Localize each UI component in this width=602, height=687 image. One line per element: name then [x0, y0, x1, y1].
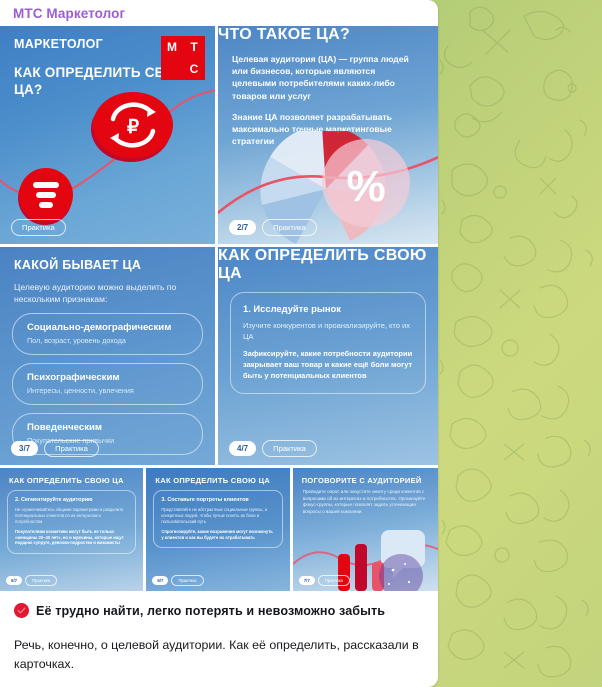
card-2-tag: Практика	[262, 219, 317, 236]
card-2-page-badge: 2/7	[229, 220, 256, 235]
card-5-tag: Практика	[25, 575, 57, 586]
card-3-tag: Практика	[44, 440, 99, 457]
card-2-header: ЧТО ТАКОЕ ЦА?	[218, 26, 438, 44]
check-circle-icon	[14, 603, 29, 618]
card-3-item-1-title: Социально-демографическим	[27, 322, 188, 333]
album-row-1: ₽ М Т С МАРКЕТОЛОГ КАК ОПРЕДЕЛИТЬ	[0, 26, 438, 244]
telegram-message-bubble: МТС Маркетолог ₽	[0, 0, 438, 687]
card-7-paragraph-1: Проведите опрос или запустите анкету сре…	[293, 485, 438, 516]
card-6-page-badge: 6/7	[152, 576, 168, 585]
message-caption: Её трудно найти, легко потерять и невозм…	[0, 591, 438, 684]
card-3-item-1: Социально-демографическим Пол, возраст, …	[12, 313, 203, 355]
card-2[interactable]: % ЧТО ТАКОЕ ЦА? Целевая аудитория (ЦА) —…	[218, 26, 438, 244]
card-1-tag: Практика	[11, 219, 66, 236]
card-4-tag: Практика	[262, 440, 317, 457]
card-5-page-badge: 5/7	[6, 576, 22, 585]
media-album: ₽ М Т С МАРКЕТОЛОГ КАК ОПРЕДЕЛИТЬ	[0, 26, 438, 591]
card-5[interactable]: КАК ОПРЕДЕЛИТЬ СВОЮ ЦА 2. Сегментируйте …	[0, 468, 143, 591]
mts-logo: М Т С	[161, 36, 205, 80]
album-row-3: КАК ОПРЕДЕЛИТЬ СВОЮ ЦА 2. Сегментируйте …	[0, 468, 438, 591]
card-4-header: КАК ОПРЕДЕЛИТЬ СВОЮ ЦА	[218, 247, 438, 283]
card-3[interactable]: КАКОЙ БЫВАЕТ ЦА Целевую аудиторию можно …	[0, 247, 215, 465]
card-7[interactable]: ПОГОВОРИТЕ С АУДИТОРИЕЙ Проведите опрос …	[293, 468, 438, 591]
card-3-item-2-title: Психографическим	[27, 372, 188, 383]
card-2-badges: 2/7 Практика	[229, 219, 317, 236]
card-4-badges: 4/7 Практика	[229, 440, 317, 457]
card-5-step-p2: Покупателями косметики могут быть не тол…	[15, 529, 128, 547]
card-7-header: ПОГОВОРИТЕ С АУДИТОРИЕЙ	[293, 468, 438, 485]
card-3-item-2-sub: Интересы, ценности, увлечения	[27, 386, 188, 395]
card-3-item-2: Психографическим Интересы, ценности, увл…	[12, 363, 203, 405]
card-5-step: 2. Сегментируйте аудиторию Не ограничива…	[7, 490, 136, 554]
card-5-header: КАК ОПРЕДЕЛИТЬ СВОЮ ЦА	[0, 468, 143, 485]
card-4-step-p1: Изучите конкурентов и проанализируйте, к…	[243, 321, 413, 342]
card-4-step-title: 1. Исследуйте рынок	[243, 303, 413, 314]
card-6[interactable]: КАК ОПРЕДЕЛИТЬ СВОЮ ЦА 3. Составьте порт…	[146, 468, 289, 591]
card-6-step: 3. Составьте портреты клиентов Представл…	[153, 490, 282, 548]
card-5-step-p1: Не ограничивайтесь общими параметрами и …	[15, 507, 128, 525]
card-4-page-badge: 4/7	[229, 441, 256, 456]
caption-body: Речь, конечно, о целевой аудитории. Как …	[14, 636, 422, 674]
card-5-badges: 5/7 Практика	[6, 575, 57, 586]
card-1[interactable]: ₽ М Т С МАРКЕТОЛОГ КАК ОПРЕДЕЛИТЬ	[0, 26, 215, 244]
card-6-step-p2: Спрогнозируйте, какие возражения могут в…	[161, 529, 274, 541]
card-7-tag: Практика	[318, 575, 350, 586]
card-7-page-badge: 7/7	[299, 576, 315, 585]
card-6-step-title: 3. Составьте портреты клиентов	[161, 497, 274, 503]
card-2-paragraph-2: Знание ЦА позволяет разрабатывать максим…	[218, 102, 438, 148]
card-6-badges: 6/7 Практика	[152, 575, 203, 586]
card-7-badges: 7/7 Практика	[299, 575, 350, 586]
card-1-badges: Практика	[11, 219, 66, 236]
card-3-header: КАКОЙ БЫВАЕТ ЦА	[0, 247, 215, 272]
card-3-intro: Целевую аудиторию можно выделить по неск…	[0, 272, 215, 305]
card-6-tag: Практика	[171, 575, 203, 586]
caption-headline-row: Её трудно найти, легко потерять и невозм…	[14, 603, 422, 618]
card-2-paragraph-1: Целевая аудитория (ЦА) — группа людей ил…	[218, 44, 438, 102]
card-4-step: 1. Исследуйте рынок Изучите конкурентов …	[230, 292, 426, 394]
svg-text:₽: ₽	[127, 117, 139, 138]
card-3-item-1-sub: Пол, возраст, уровень дохода	[27, 336, 188, 345]
album-row-2: КАКОЙ БЫВАЕТ ЦА Целевую аудиторию можно …	[0, 247, 438, 465]
caption-headline: Её трудно найти, легко потерять и невозм…	[36, 604, 385, 618]
card-3-page-badge: 3/7	[11, 441, 38, 456]
card-6-header: КАК ОПРЕДЕЛИТЬ СВОЮ ЦА	[146, 468, 289, 485]
card-3-item-3-title: Поведенческим	[27, 422, 188, 433]
card-5-step-title: 2. Сегментируйте аудиторию	[15, 497, 128, 503]
card-4-step-p2: Зафиксируйте, какие потребности аудитори…	[243, 349, 413, 381]
svg-text:%: %	[346, 162, 385, 211]
card-6-step-p1: Представляйте не абстрактные социальные …	[161, 507, 274, 525]
card-3-badges: 3/7 Практика	[11, 440, 99, 457]
channel-title[interactable]: МТС Маркетолог	[0, 0, 438, 26]
card-4[interactable]: КАК ОПРЕДЕЛИТЬ СВОЮ ЦА 1. Исследуйте рын…	[218, 247, 438, 465]
